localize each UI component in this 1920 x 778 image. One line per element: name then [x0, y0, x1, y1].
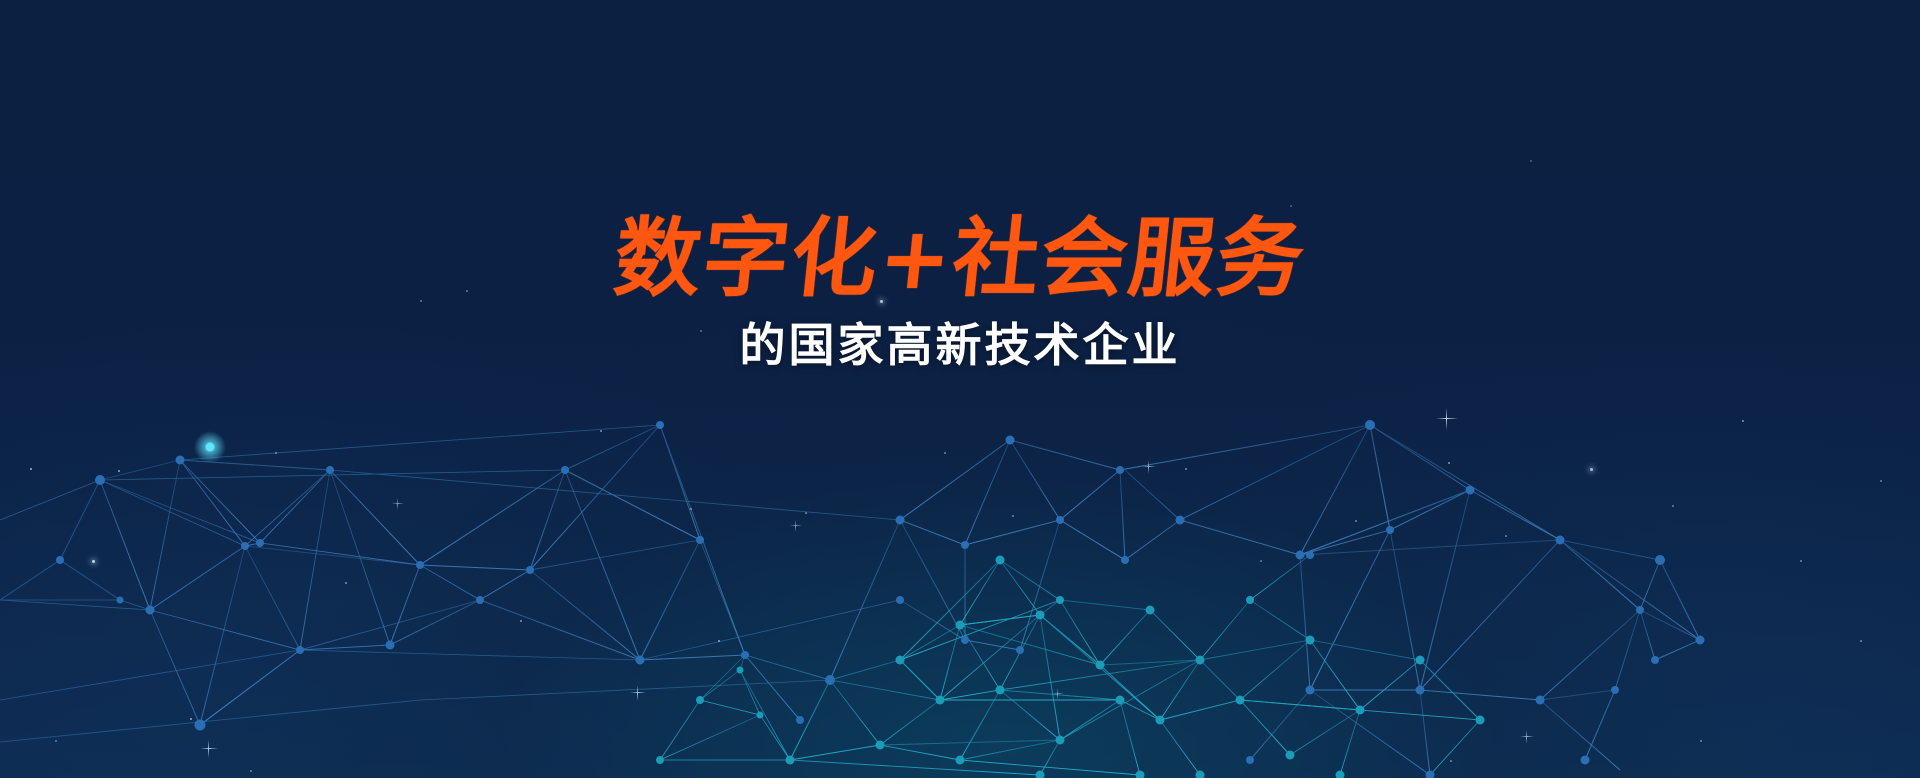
hero-banner: 数字化+社会服务 的国家高新技术企业: [0, 0, 1920, 778]
banner-headline: 数字化+社会服务: [610, 216, 1309, 304]
banner-text-block: 数字化+社会服务 的国家高新技术企业: [0, 216, 1920, 370]
banner-subheadline: 的国家高新技术企业: [0, 320, 1920, 371]
network-mesh-graphic: [0, 0, 1920, 778]
